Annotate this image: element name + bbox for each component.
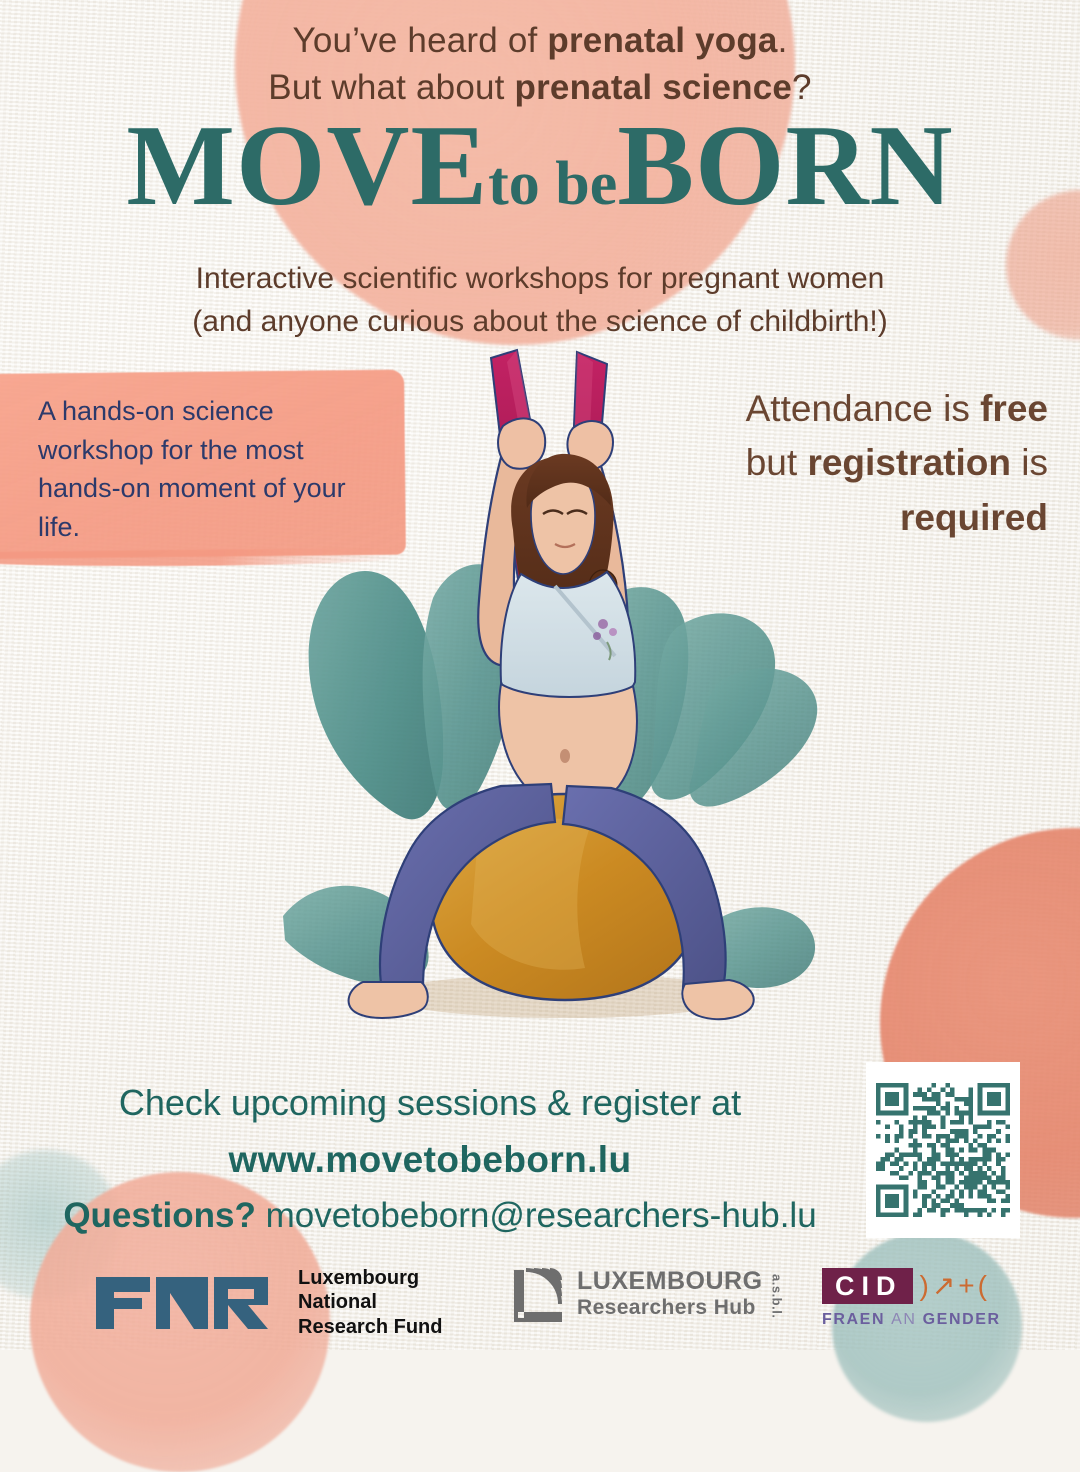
eyebrow-line1-plain: You’ve heard of: [293, 21, 548, 60]
qr-code-card[interactable]: [866, 1062, 1020, 1238]
attendance-free: free: [980, 388, 1048, 429]
lrh-line-2: Researchers Hub: [577, 1296, 763, 1320]
registration-required: required: [900, 497, 1048, 538]
page-title: MOVEto beBORN: [0, 108, 1080, 223]
title-born: BORN: [617, 102, 953, 229]
registration-note: Attendance is free but registration is r…: [648, 382, 1048, 545]
qr-code[interactable]: [876, 1083, 1010, 1217]
website-link[interactable]: www.movetobeborn.lu: [0, 1138, 860, 1182]
fnr-line-2: National: [298, 1290, 442, 1314]
eyebrow-line-1: You’ve heard of prenatal yoga.: [0, 18, 1080, 65]
fnr-line-1: Luxembourg: [298, 1266, 442, 1290]
contact-email-link[interactable]: movetobeborn@researchers-hub.lu: [266, 1196, 817, 1235]
cta-block: Check upcoming sessions & register at ww…: [0, 1082, 860, 1182]
lrh-line-1: LUXEMBOURG: [577, 1269, 763, 1294]
lrh-asbl-suffix: a.s.b.l.: [770, 1274, 785, 1318]
fnr-mark-icon: [96, 1271, 282, 1335]
attendance-plain: Attendance is: [746, 388, 980, 429]
logo-luxembourg-researchers-hub: LUXEMBOURG Researchers Hub a.s.b.l.: [506, 1266, 785, 1324]
left-description-note: A hands-on science workshop for the most…: [38, 392, 368, 546]
logo-fnr: Luxembourg National Research Fund: [96, 1266, 442, 1339]
cid-tagline-an: AN: [891, 1311, 916, 1328]
questions-line: Questions? movetobeborn@researchers-hub.…: [0, 1196, 880, 1236]
cid-tagline-gender: GENDER: [923, 1311, 1001, 1328]
cid-tagline: FRAEN AN GENDER: [822, 1311, 1001, 1329]
questions-label: Questions?: [63, 1196, 256, 1235]
title-move: MOVE: [126, 102, 488, 229]
eyebrow-line1-tail: .: [778, 21, 788, 60]
subtitle: Interactive scientific workshops for pre…: [0, 258, 1080, 343]
cid-tagline-fraen: FRAEN: [822, 1311, 885, 1328]
arc-lines-icon: [506, 1266, 568, 1324]
registration-but: but: [746, 442, 808, 483]
cta-text: Check upcoming sessions & register at: [119, 1082, 741, 1123]
registration-line-1: Attendance is free: [648, 382, 1048, 436]
logo-cid-fraen-an-gender: CID )↗+( FRAEN AN GENDER: [822, 1268, 1001, 1329]
partner-logos: Luxembourg National Research Fund LUXEMB…: [0, 1258, 1080, 1350]
registration-is: is: [1011, 442, 1048, 483]
registration-line-3: required: [648, 491, 1048, 545]
subtitle-line-1: Interactive scientific workshops for pre…: [0, 258, 1080, 301]
subtitle-line-2: (and anyone curious about the science of…: [0, 301, 1080, 344]
eyebrow-line1-bold: prenatal yoga: [547, 21, 777, 60]
registration-word: registration: [807, 442, 1011, 483]
registration-line-2: but registration is: [648, 436, 1048, 490]
cid-box-text: CID: [822, 1268, 913, 1304]
fnr-wordmark-text: Luxembourg National Research Fund: [298, 1266, 442, 1339]
cid-symbols-icon: )↗+(: [920, 1272, 990, 1300]
fnr-line-3: Research Fund: [298, 1315, 442, 1339]
lrh-wordmark-text: LUXEMBOURG Researchers Hub: [577, 1269, 763, 1320]
title-to-be: to be: [488, 150, 617, 218]
eyebrow-tagline: You’ve heard of prenatal yoga. But what …: [0, 18, 1080, 112]
